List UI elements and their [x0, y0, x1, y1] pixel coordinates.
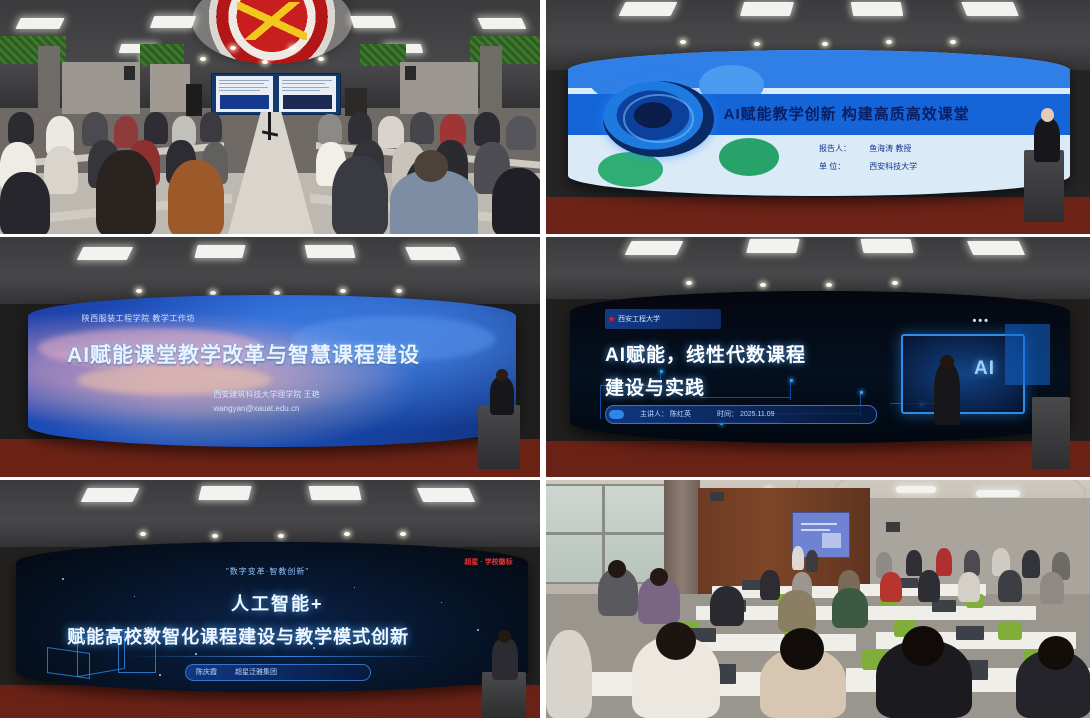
presenter [1034, 118, 1060, 162]
ceiling-light [309, 486, 362, 500]
ceiling-light [976, 490, 1020, 497]
ceiling-light [861, 239, 914, 253]
downlight [262, 60, 268, 64]
presenter-bar: 陈庆霞 超星泛雅集团 [185, 664, 371, 681]
participant [958, 572, 980, 602]
speaker-info-bar: 主讲人： 陈红英 时间： 2025.11.09 [605, 405, 877, 424]
slide-presenter: 西安建筑科技大学理学院 王艳 [213, 389, 319, 400]
slide-ai-theme: "数字变革·智教创新" 人工智能+ 赋能高校数智化课程建设与教学模式创新 陈庆霞… [16, 542, 528, 692]
affiliation-name: 西安科技大学 [869, 161, 917, 172]
presentation-screen [211, 73, 341, 115]
star-icon [608, 316, 615, 323]
participant [998, 570, 1022, 602]
attendee [144, 112, 168, 144]
participant [792, 546, 804, 570]
downlight [340, 289, 346, 293]
presenter-head [496, 369, 508, 381]
led-wall: 西安工程大学 ••• AI赋能，线性代数课程 建设与实践 主讲人： 陈红英 时间… [570, 291, 1070, 443]
slide-column-left [216, 76, 274, 111]
speaker-box [124, 66, 135, 80]
ceiling-light [619, 2, 678, 16]
green-foliage-wall [140, 44, 184, 66]
podium [1032, 397, 1070, 469]
date-value: 2025.11.09 [740, 411, 775, 418]
floor [546, 197, 1090, 234]
play-icon [609, 410, 624, 419]
participant [760, 570, 780, 600]
ceiling-light [77, 247, 133, 260]
participant [918, 570, 940, 602]
ceiling-light [478, 18, 527, 29]
downlight [826, 283, 832, 287]
photo-collage: AI赋能教学创新 构建高质高效课堂 报告人： 鱼海涛 教授 单 位： 西安科技大… [0, 0, 1090, 718]
slide-title-line1: AI赋能，线性代数课程 [605, 340, 806, 367]
ceiling-light [961, 2, 1019, 16]
participant [1022, 550, 1040, 578]
pillar [480, 46, 502, 112]
presenter [490, 377, 514, 415]
date-label: 时间： [717, 409, 738, 419]
participant-head [902, 626, 944, 666]
ceiling-light [15, 18, 64, 29]
slide-title-line2: 赋能高校数智化课程建设与教学模式创新 [67, 623, 409, 649]
speaker-box [886, 522, 900, 532]
attendee [318, 114, 342, 144]
led-wall: AI赋能教学创新 构建高质高效课堂 报告人： 鱼海涛 教授 单 位： 西安科技大… [568, 50, 1070, 196]
university-logo-text: 西安工程大学 [618, 314, 660, 324]
slide-email: wangyan@xauat.edu.cn [213, 404, 299, 413]
downlight [686, 281, 692, 285]
participant-foreground [546, 630, 592, 718]
presenter [492, 638, 518, 680]
attendee-foreground [168, 160, 224, 234]
corner-logos: 超星 · 学校徽标 [464, 557, 512, 567]
speaker-name: 陈红英 [670, 409, 691, 419]
slide-wave-theme: 陕西服装工程学院 教学工作坊 AI赋能课堂教学改革与智慧课程建设 西安建筑科技大… [28, 295, 516, 447]
led-wall: "数字变革·智教创新" 人工智能+ 赋能高校数智化课程建设与教学模式创新 陈庆霞… [16, 542, 528, 692]
downlight [400, 532, 406, 536]
participant-head [780, 628, 824, 670]
participant-head [608, 560, 626, 578]
decor-circle-green [719, 138, 779, 176]
slide-kicker: "数字变革·智教创新" [226, 566, 309, 577]
ceiling-light [417, 488, 475, 502]
speaker-box [405, 66, 416, 80]
slide-title-line2: 建设与实践 [605, 373, 705, 400]
attendee-foreground [0, 172, 50, 234]
participant [880, 572, 902, 602]
slide-title-line1: 人工智能+ [231, 590, 324, 616]
slide-column-right [279, 76, 337, 111]
attendee [410, 112, 434, 144]
ai-label: AI [974, 358, 995, 380]
downlight [318, 57, 324, 61]
slide-organization: 超星泛雅集团 [235, 667, 277, 677]
participant [806, 550, 818, 572]
ceiling-light [746, 239, 799, 253]
door [186, 84, 202, 116]
downlight [396, 289, 402, 293]
slide-dark-theme: 西安工程大学 ••• AI赋能，线性代数课程 建设与实践 主讲人： 陈红英 时间… [570, 291, 1070, 443]
participant [906, 550, 922, 576]
affiliation-label: 单 位： [819, 161, 845, 172]
participant [710, 586, 744, 626]
attendee-foreground [332, 156, 388, 234]
speaker-label: 报告人： [819, 143, 851, 154]
presenter [934, 363, 960, 425]
ceiling-light [896, 486, 936, 493]
participant [1040, 572, 1064, 604]
participant [778, 590, 816, 632]
ceiling-light [625, 241, 684, 255]
downlight [680, 40, 686, 44]
downlight [212, 534, 218, 538]
lab-chair [998, 622, 1022, 640]
ceiling-light [740, 2, 794, 16]
downlight [760, 283, 766, 287]
ceiling-light [967, 241, 1025, 255]
presenter-head [498, 630, 511, 643]
downlight [200, 57, 206, 61]
downlight [140, 532, 146, 536]
ceiling-light [851, 2, 903, 16]
window-mullion [546, 532, 666, 535]
attendee-head [414, 150, 448, 182]
downlight [230, 46, 236, 50]
attendee [506, 116, 536, 150]
downlight [278, 534, 284, 538]
led-wall: 陕西服装工程学院 教学工作坊 AI赋能课堂教学改革与智慧课程建设 西安建筑科技大… [28, 295, 516, 447]
participant-head [1038, 636, 1074, 670]
slide-title: AI赋能课堂教学改革与智慧课程建设 [67, 339, 420, 369]
speaker-name: 鱼海涛 教授 [869, 143, 911, 154]
slide-blue-theme: AI赋能教学创新 构建高质高效课堂 报告人： 鱼海涛 教授 单 位： 西安科技大… [568, 50, 1070, 196]
photo-panel-top-right[interactable]: AI赋能教学创新 构建高质高效课堂 报告人： 鱼海涛 教授 单 位： 西安科技大… [546, 0, 1090, 234]
downlight [822, 42, 828, 46]
speaker-label: 主讲人： [640, 409, 668, 419]
tripod [268, 112, 271, 140]
slide-title: AI赋能教学创新 构建高质高效课堂 [724, 103, 970, 124]
ceiling-light [81, 488, 140, 502]
attendee [474, 112, 500, 146]
attendee [44, 146, 78, 194]
ceiling-light [350, 16, 396, 28]
downlight [754, 42, 760, 46]
participant-head [656, 622, 696, 660]
photo-panel-top-left[interactable] [0, 0, 540, 234]
university-logo: 西安工程大学 [605, 309, 721, 329]
participant [936, 548, 952, 576]
participant-head [650, 568, 668, 586]
participant [832, 588, 868, 628]
presenter-head [1041, 108, 1054, 122]
ai-eye-graphic [603, 81, 713, 157]
presenter-head [940, 355, 954, 369]
ceiling-light [405, 247, 461, 260]
slide-presenter: 陈庆霞 [196, 667, 217, 677]
laptop [956, 626, 984, 640]
ceiling-light [305, 245, 356, 258]
attendee-foreground [96, 150, 156, 234]
slide-kicker: 陕西服装工程学院 教学工作坊 [82, 313, 195, 324]
menu-dots-icon: ••• [972, 315, 990, 327]
downlight [950, 40, 956, 44]
photo-panel-middle-left[interactable]: 陕西服装工程学院 教学工作坊 AI赋能课堂教学改革与智慧课程建设 西安建筑科技大… [0, 237, 540, 477]
ceiling-light [194, 245, 245, 258]
attendee [8, 112, 34, 144]
ceiling-light [198, 486, 251, 500]
attendee-foreground [492, 168, 540, 234]
photo-panel-bottom-left[interactable]: "数字变革·智教创新" 人工智能+ 赋能高校数智化课程建设与教学模式创新 陈庆霞… [0, 480, 540, 718]
downlight [136, 289, 142, 293]
downlight [892, 281, 898, 285]
speaker-box [710, 492, 724, 501]
downlight [290, 46, 296, 50]
photo-panel-middle-right[interactable]: 西安工程大学 ••• AI赋能，线性代数课程 建设与实践 主讲人： 陈红英 时间… [546, 237, 1090, 477]
downlight [344, 532, 350, 536]
wall-panel [150, 64, 190, 112]
floor [546, 441, 1090, 477]
pillar [38, 46, 60, 112]
photo-panel-bottom-right[interactable] [546, 480, 1090, 718]
laptop [742, 580, 762, 590]
downlight [886, 40, 892, 44]
ceiling-light [150, 16, 196, 28]
attendee [200, 112, 222, 142]
